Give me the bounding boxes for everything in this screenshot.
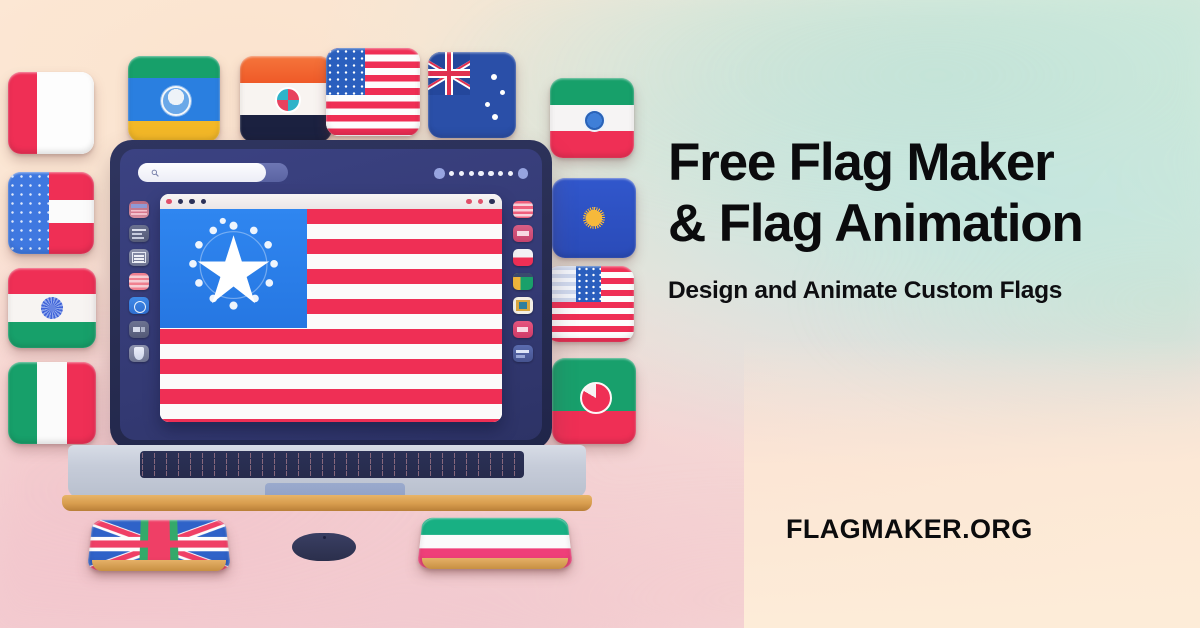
circle-emblem-icon bbox=[161, 86, 191, 116]
background-warm-fade bbox=[744, 339, 1200, 628]
flag-tile-usa bbox=[326, 48, 420, 136]
canton-stars bbox=[160, 209, 307, 328]
brand-wordmark: FLAGMAKER.ORG bbox=[786, 514, 1033, 545]
indicator-dot bbox=[459, 171, 464, 176]
clock-icon[interactable] bbox=[129, 297, 149, 314]
flag-art bbox=[428, 52, 516, 138]
laptop-gold-edge bbox=[62, 495, 592, 511]
window-dot-close[interactable] bbox=[166, 199, 172, 205]
headline-line-2: & Flag Animation bbox=[668, 193, 1180, 254]
laptop-base bbox=[62, 445, 592, 513]
indicator-dot bbox=[449, 171, 454, 176]
list-view-icon[interactable] bbox=[129, 225, 149, 242]
window-title-bar bbox=[160, 194, 502, 209]
indicator-dot bbox=[498, 171, 503, 176]
headline-line-1: Free Flag Maker bbox=[668, 133, 1054, 192]
indicator-dot bbox=[488, 171, 493, 176]
search-icon bbox=[151, 169, 159, 177]
laptop-deck bbox=[68, 445, 586, 497]
flag-tile-icon[interactable] bbox=[129, 201, 149, 218]
flag-canvas[interactable] bbox=[160, 209, 502, 422]
banner-canvas: Free Flag Maker & Flag Animation Design … bbox=[0, 0, 1200, 628]
menu-lines-icon[interactable] bbox=[129, 249, 149, 266]
flag-canton bbox=[160, 209, 307, 328]
window-dot[interactable] bbox=[478, 199, 484, 205]
laptop-illustration bbox=[62, 140, 592, 560]
shield-icon[interactable] bbox=[129, 345, 149, 362]
circle-emblem-icon bbox=[583, 109, 606, 132]
flag-thumb-icon[interactable] bbox=[513, 225, 533, 242]
laptop-screen bbox=[120, 149, 542, 440]
indicator-dot-large bbox=[434, 168, 445, 179]
window-dot[interactable] bbox=[178, 199, 184, 205]
indicator-dot-large bbox=[518, 168, 529, 179]
window-dot[interactable] bbox=[466, 199, 472, 205]
flag-poland-icon[interactable] bbox=[513, 249, 533, 266]
page-title: Free Flag Maker & Flag Animation bbox=[668, 132, 1180, 255]
flag-bands-icon[interactable] bbox=[513, 273, 533, 290]
screen-indicator-dots bbox=[434, 168, 528, 179]
stripes-flag-icon[interactable] bbox=[129, 273, 149, 290]
flag-tile-uk-gold-edge bbox=[92, 560, 226, 571]
subheadline: Design and Animate Custom Flags bbox=[668, 277, 1180, 305]
laptop-lid bbox=[110, 140, 552, 450]
indicator-dot bbox=[469, 171, 474, 176]
flag-pink-icon[interactable] bbox=[513, 321, 533, 338]
globe-emblem-icon bbox=[275, 87, 301, 113]
window-dot[interactable] bbox=[489, 199, 495, 205]
flag-art bbox=[240, 56, 332, 142]
chakra-emblem-icon bbox=[41, 297, 63, 319]
flag-tile-green-blue-yellow bbox=[128, 56, 220, 142]
badge-icon[interactable] bbox=[129, 321, 149, 338]
hero-copy: Free Flag Maker & Flag Animation Design … bbox=[668, 132, 1180, 305]
indicator-dot bbox=[478, 171, 483, 176]
puck-body bbox=[292, 533, 356, 561]
window-dot[interactable] bbox=[189, 199, 195, 205]
flag-tile-egypt bbox=[240, 56, 332, 142]
image-frame-icon[interactable] bbox=[513, 297, 533, 314]
flag-art bbox=[128, 56, 220, 142]
flag-tile-australia bbox=[428, 52, 516, 138]
mouse-puck[interactable] bbox=[292, 525, 356, 563]
flag-blue-icon[interactable] bbox=[513, 345, 533, 362]
window-dot[interactable] bbox=[201, 199, 207, 205]
editor-right-sidebar bbox=[513, 201, 533, 362]
editor-left-sidebar bbox=[129, 201, 149, 362]
flag-art bbox=[326, 48, 420, 136]
keyboard bbox=[140, 451, 524, 478]
flag-editor-window[interactable] bbox=[160, 194, 502, 422]
search-bar[interactable] bbox=[138, 163, 288, 182]
stripes-red-icon[interactable] bbox=[513, 201, 533, 218]
indicator-dot bbox=[508, 171, 513, 176]
